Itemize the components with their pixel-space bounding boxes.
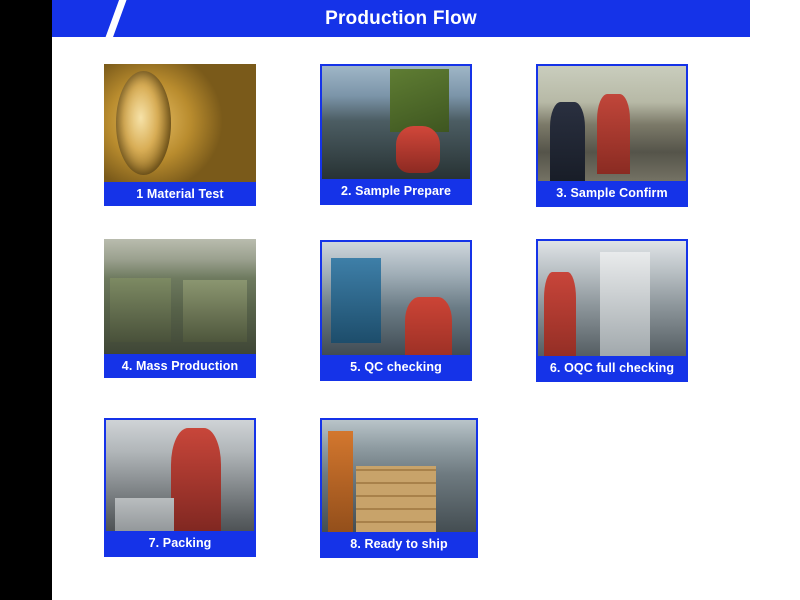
flow-step-8-label: 8. Ready to ship [322,532,476,556]
oqc-lab-photo: 6. OQC full checking [536,239,688,382]
flow-step-7-label: 7. Packing [106,531,254,555]
warehouse-pallet-photo: 8. Ready to ship [320,418,478,558]
press-machine-photo: 2. Sample Prepare [320,64,472,205]
page-title: Production Flow [52,0,750,37]
qc-checking-photo: 5. QC checking [320,240,472,381]
flow-step-1[interactable]: 1 Material Test [104,64,256,206]
brass-coil-photo [104,64,256,182]
flow-step-2-label: 2. Sample Prepare [322,179,470,203]
slide-canvas: Production Flow 1 Material Test 2. Sampl… [0,0,800,600]
flow-step-5-label: 5. QC checking [322,355,470,379]
flow-step-2[interactable]: 2. Sample Prepare [320,64,472,205]
flow-step-7[interactable]: 7. Packing [104,418,256,557]
flow-step-4-label: 4. Mass Production [104,354,256,378]
flow-step-5[interactable]: 5. QC checking [320,240,472,381]
flow-step-6-label: 6. OQC full checking [538,356,686,380]
flow-step-3[interactable]: 3. Sample Confirm [536,64,688,207]
flow-step-6[interactable]: 6. OQC full checking [536,239,688,382]
sample-confirm-photo: 3. Sample Confirm [536,64,688,207]
packing-photo: 7. Packing [104,418,256,557]
factory-floor-photo [104,239,256,354]
flow-step-4[interactable]: 4. Mass Production [104,239,256,378]
flow-step-8[interactable]: 8. Ready to ship [320,418,478,558]
flow-step-3-label: 3. Sample Confirm [538,181,686,205]
flow-step-1-label: 1 Material Test [104,182,256,206]
